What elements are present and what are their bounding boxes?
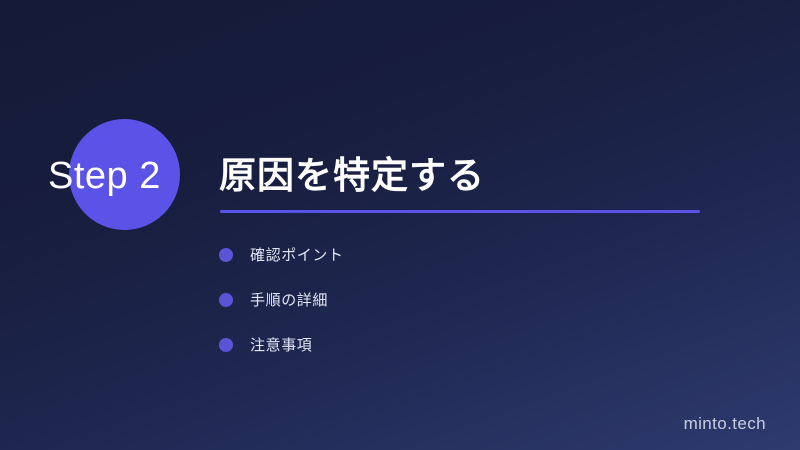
bullet-dot-icon <box>219 248 233 262</box>
bullet-dot-icon <box>219 293 233 307</box>
watermark-brand: minto.tech <box>684 414 766 434</box>
step-label: Step 2 <box>48 145 161 207</box>
list-item-label: 注意事項 <box>250 334 312 355</box>
list-item: 注意事項 <box>219 322 699 367</box>
list-item-label: 手順の詳細 <box>250 289 328 310</box>
bullet-dot-icon <box>219 338 233 352</box>
page-title: 原因を特定する <box>219 145 485 207</box>
list-item-label: 確認ポイント <box>250 244 344 265</box>
bullet-list: 確認ポイント 手順の詳細 注意事項 <box>219 232 699 367</box>
list-item: 確認ポイント <box>219 232 699 277</box>
list-item: 手順の詳細 <box>219 277 699 322</box>
title-divider <box>220 210 700 213</box>
presentation-slide: Step 2 原因を特定する 確認ポイント 手順の詳細 注意事項 minto.t… <box>0 0 800 450</box>
slide-header: Step 2 原因を特定する <box>0 145 800 207</box>
